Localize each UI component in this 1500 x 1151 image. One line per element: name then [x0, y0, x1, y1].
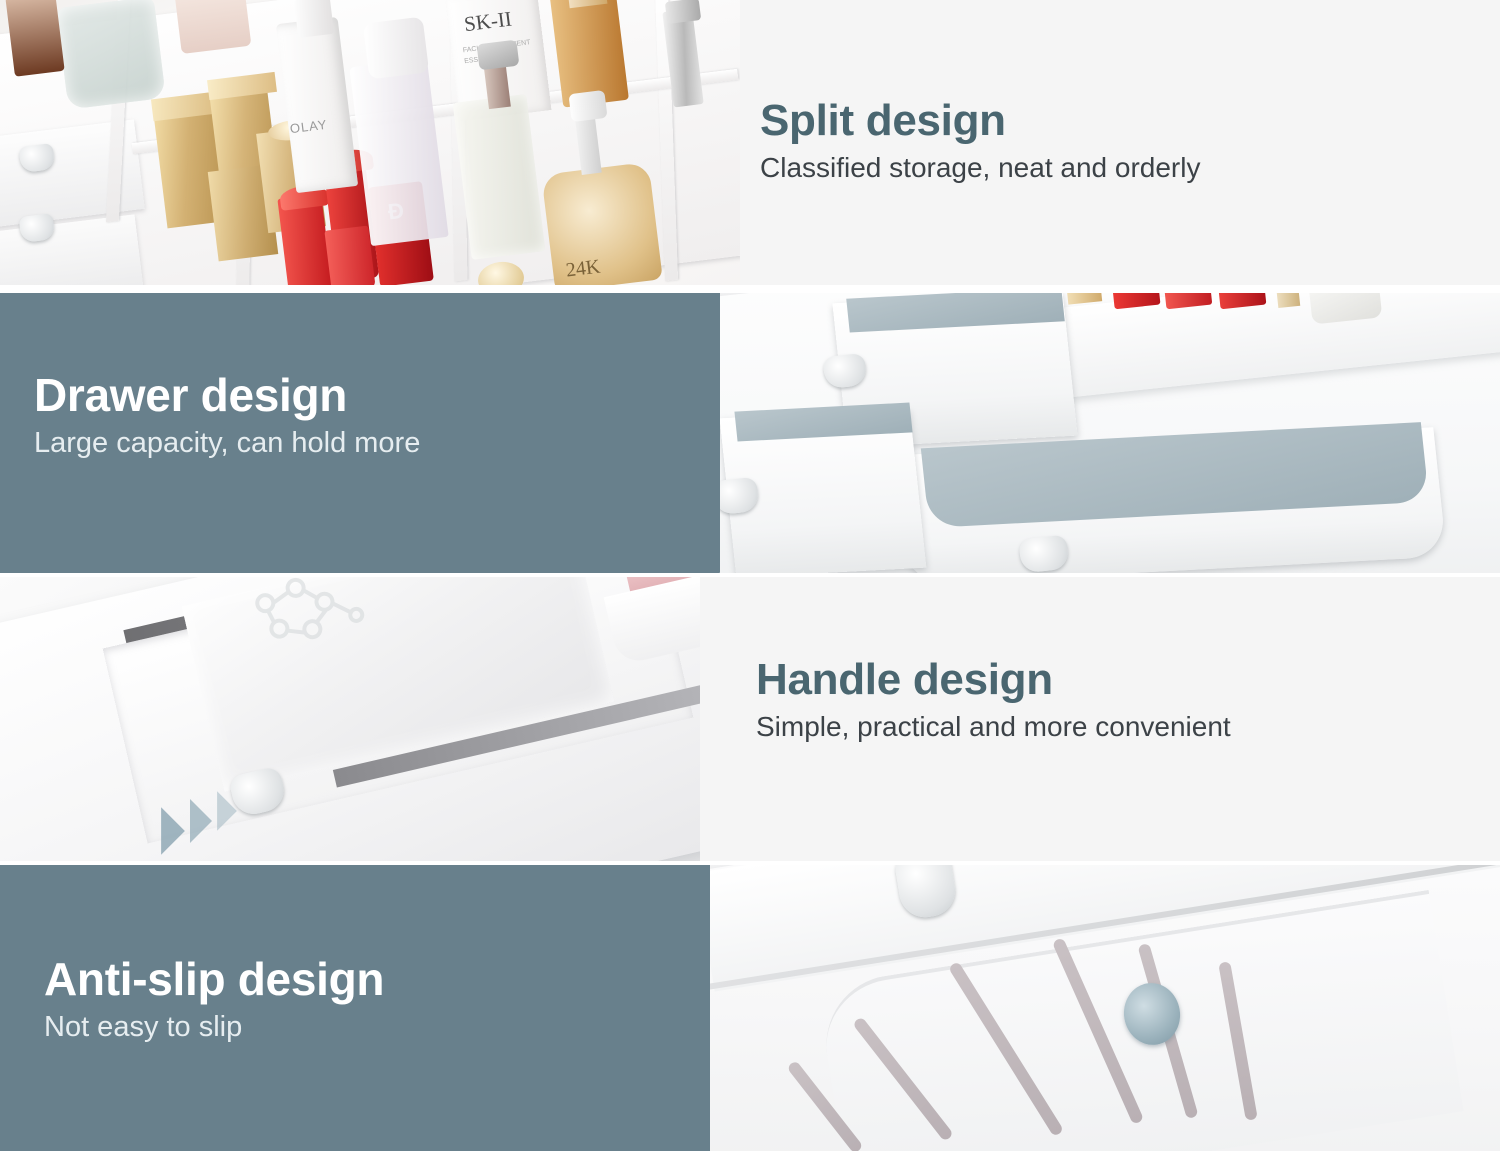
panel-drawer-design: Drawer design Large capacity, can hold m…	[0, 293, 1500, 573]
subline-anti-slip-design: Not easy to slip	[44, 1011, 704, 1044]
product-feature-infographic: Ɖ OLAY SK-II FACIAL TREATMENTESSENCE	[0, 0, 1500, 1151]
headline-split-design: Split design	[760, 98, 1460, 144]
copy-split-design: Split design Classified storage, neat an…	[760, 98, 1460, 184]
subline-split-design: Classified storage, neat and orderly	[760, 152, 1460, 184]
photo-split-design: Ɖ OLAY SK-II FACIAL TREATMENTESSENCE	[0, 0, 740, 285]
chevron-left-icon-2	[190, 799, 212, 843]
panel-split-design: Ɖ OLAY SK-II FACIAL TREATMENTESSENCE	[0, 0, 1500, 285]
photo-handle-design	[0, 577, 700, 861]
subline-handle-design: Simple, practical and more convenient	[756, 711, 1476, 743]
headline-handle-design: Handle design	[756, 657, 1476, 703]
copy-drawer-design: Drawer design Large capacity, can hold m…	[34, 371, 674, 461]
panel-handle-design: Handle design Simple, practical and more…	[0, 577, 1500, 861]
photo-drawer-design	[720, 293, 1500, 573]
subline-drawer-design: Large capacity, can hold more	[34, 427, 674, 460]
headline-anti-slip-design: Anti-slip design	[44, 955, 704, 1003]
headline-drawer-design: Drawer design	[34, 371, 674, 419]
chevron-left-icon-3	[161, 807, 185, 855]
copy-anti-slip-design: Anti-slip design Not easy to slip	[44, 955, 704, 1045]
chevron-left-icon-1	[217, 791, 237, 831]
copy-handle-design: Handle design Simple, practical and more…	[756, 657, 1476, 743]
photo-anti-slip-design	[710, 865, 1500, 1151]
panel-anti-slip-design: Anti-slip design Not easy to slip	[0, 865, 1500, 1151]
